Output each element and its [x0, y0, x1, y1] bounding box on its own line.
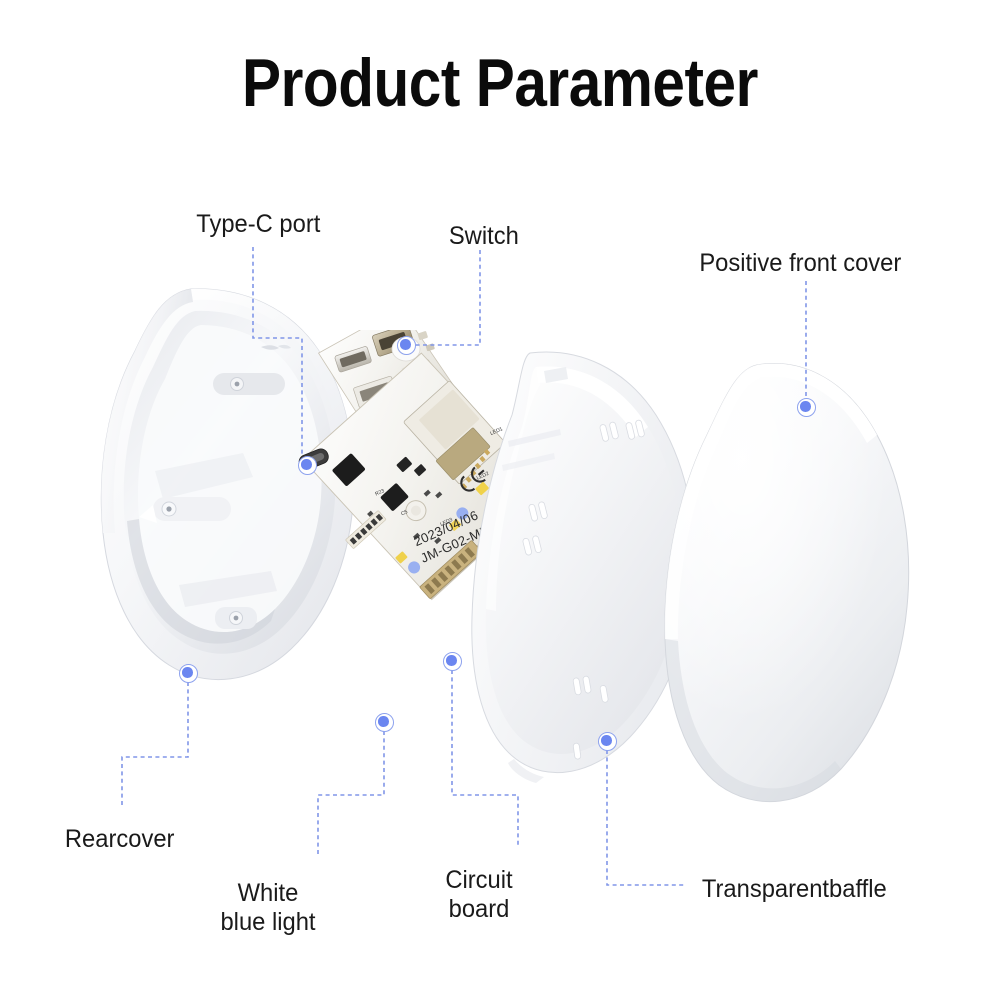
callout-marker-rearcover[interactable] — [179, 664, 198, 683]
callout-marker-switch[interactable] — [397, 336, 416, 355]
callout-marker-circuit-board[interactable] — [443, 652, 462, 671]
callout-label-positive-front-cover: Positive front cover — [699, 249, 901, 278]
callout-label-transparentbaffle: Transparentbaffle — [702, 875, 887, 904]
callout-marker-white-blue-light[interactable] — [375, 713, 394, 732]
callout-marker-type-c-port[interactable] — [298, 456, 317, 475]
callout-marker-positive-front-cover[interactable] — [797, 398, 816, 417]
callout-label-circuit-board: Circuit board — [375, 866, 584, 924]
callout-label-rearcover: Rearcover — [65, 825, 175, 854]
callout-label-switch: Switch — [449, 222, 519, 251]
callout-marker-transparentbaffle[interactable] — [598, 732, 617, 751]
product-parameter-diagram: Product Parameter — [0, 0, 1000, 1000]
callout-label-white-blue-light: White blue light — [164, 879, 373, 937]
callout-label-type-c-port: Type-C port — [196, 210, 320, 239]
part-front-cover — [645, 355, 955, 805]
